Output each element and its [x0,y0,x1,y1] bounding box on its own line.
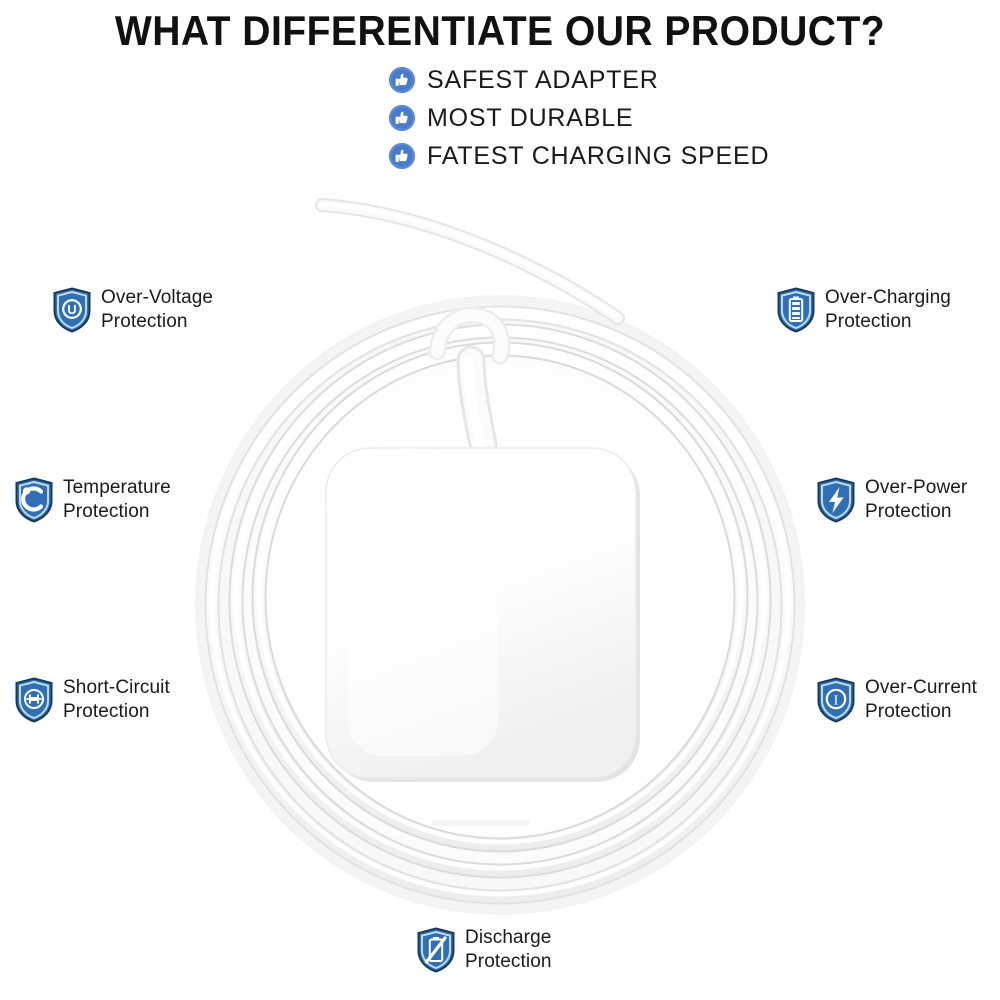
list-item-label: FATEST CHARGING SPEED [427,144,769,169]
list-item-label: MOST DURABLE [427,106,633,131]
cable-loop-middle [236,331,764,871]
highlights-list: SAFEST ADAPTER MOST DURABLE FATEST CHARG… [388,64,769,172]
shield-lightning-icon [816,477,856,523]
feature-badge-label: Over-Current Protection [865,676,977,723]
cable-strain-relief [471,360,483,444]
feature-badge-label: Short-Circuit Protection [63,676,170,723]
feature-badge-label: Discharge Protection [465,926,552,973]
feature-badge-label: Temperature Protection [63,476,171,523]
list-item: SAFEST ADAPTER [388,64,769,96]
feature-badge-over-voltage: U Over-Voltage Protection [52,286,213,333]
cable-loop-outer [212,313,788,897]
feature-badge-over-power: Over-Power Protection [816,476,967,523]
list-item-label: SAFEST ADAPTER [427,68,659,93]
cable-loop-inner [259,349,741,845]
thumbs-up-icon [388,104,416,132]
feature-badge-temperature: Temperature Protection [14,476,171,523]
svg-text:U: U [67,302,76,317]
page-title: WHAT DIFFERENTIATE OUR PRODUCT? [35,8,965,54]
thumbs-up-icon [388,142,416,170]
list-item: MOST DURABLE [388,102,769,134]
shield-letter-i-icon: I [816,677,856,723]
shield-battery-icon [776,287,816,333]
shield-battery-slash-icon [416,927,456,973]
infographic-canvas: WHAT DIFFERENTIATE OUR PRODUCT? SAFEST A… [0,0,1000,1000]
adapter-shadow [330,452,640,782]
feature-badge-label: Over-Power Protection [865,476,967,523]
shield-resistor-icon [14,677,54,723]
shield-celsius-icon [14,477,54,523]
adapter-body [326,448,636,778]
feature-badge-label: Over-Voltage Protection [101,286,213,333]
svg-text:I: I [834,694,839,709]
shield-letter-u-icon: U [52,287,92,333]
feature-badge-label: Over-Charging Protection [825,286,951,333]
list-item: FATEST CHARGING SPEED [388,140,769,172]
thumbs-up-icon [388,66,416,94]
cable-tail [322,205,618,318]
feature-badge-over-charging: Over-Charging Protection [776,286,951,333]
feature-badge-short-circuit: Short-Circuit Protection [14,676,170,723]
feature-badge-discharge: Discharge Protection [416,926,552,973]
feature-badge-over-current: I Over-Current Protection [816,676,977,723]
